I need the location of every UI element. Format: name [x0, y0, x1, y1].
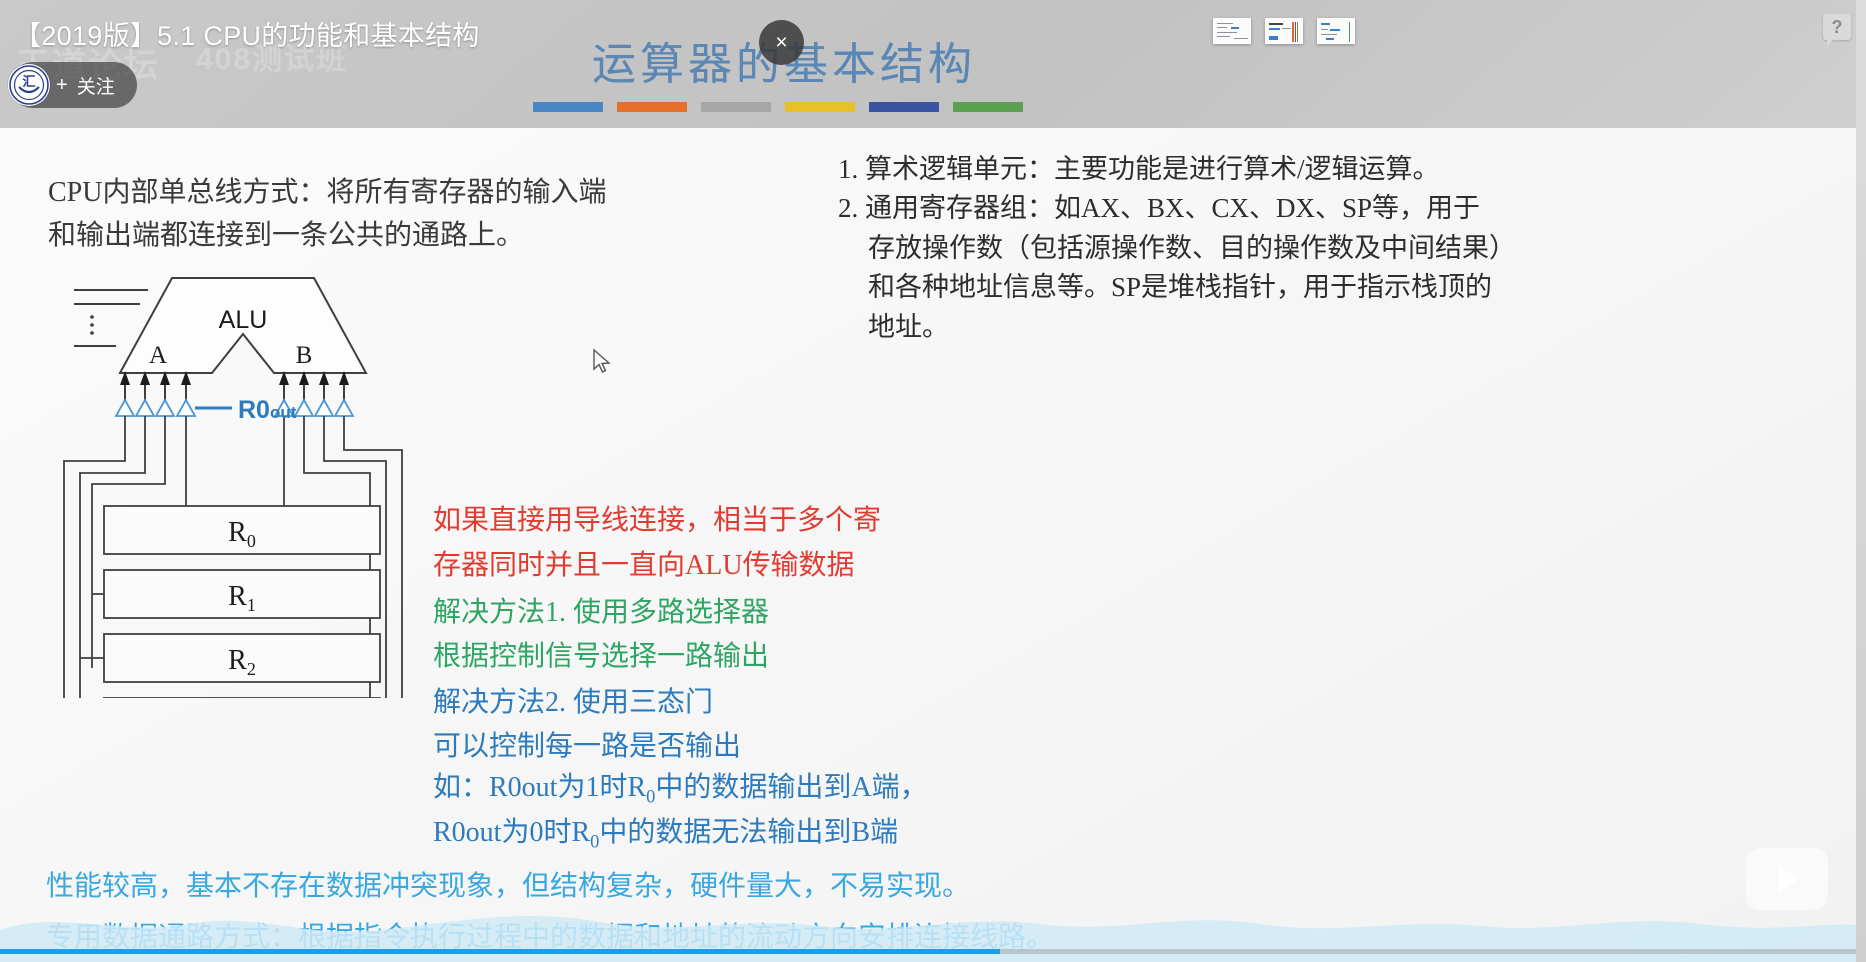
ex-subscript: 0 [590, 832, 599, 852]
follow-label: 关注 [77, 72, 115, 99]
right-block-line-2: 2. 通用寄存器组：如AX、BX、CX、DX、SP等，用于 [838, 189, 1516, 228]
heading-bar-1 [533, 102, 603, 112]
ex-suffix: 中的数据输出到A端， [655, 772, 927, 803]
right-block-line-5: 地址。 [838, 308, 1516, 347]
heading-bar-6 [953, 102, 1023, 112]
right-edge-strip [1856, 0, 1866, 962]
heading-bar-3 [701, 102, 771, 112]
heading-color-bars [533, 102, 1023, 112]
question-mark-icon: ? [1832, 17, 1843, 38]
right-block-line-4: 和各种地址信息等。SP是堆栈指针，用于指示栈顶的 [838, 268, 1516, 307]
progress-bar-track[interactable] [0, 949, 1866, 954]
ex-prefix: 如：R0out为1时 [433, 772, 627, 803]
ex-register: R [571, 817, 590, 848]
alu-circuit-diagram: ALU A B R0out R0 R1 R2 R3 [52, 268, 432, 698]
slide-thumbnail-1[interactable] [1213, 18, 1251, 44]
heading-bar-5 [869, 102, 939, 112]
right-block-line-1: 1. 算术逻辑单元：主要功能是进行算术/逻辑运算。 [838, 150, 1516, 189]
annotation-example-2: R0out为0时R0中的数据无法输出到B端 [433, 819, 898, 851]
close-icon: × [775, 31, 787, 55]
ex-prefix: R0out为0时 [433, 817, 571, 848]
platform-logo-watermark [1746, 848, 1828, 910]
annotation-2: 存器同时并且一直向ALU传输数据 [433, 552, 855, 580]
slide-thumbnail-3[interactable] [1317, 18, 1355, 44]
slide-thumbnail-strip [1213, 18, 1355, 44]
ex-register: R [627, 772, 646, 803]
svg-text:B: B [296, 342, 313, 369]
svg-text:汇: 汇 [22, 74, 35, 89]
bottom-line-1: 性能较高，基本不存在数据冲突现象，但结构复杂，硬件量大，不易实现。 [46, 864, 970, 904]
close-button[interactable]: × [759, 20, 804, 65]
ex-subscript: 0 [646, 787, 655, 807]
progress-bar-fill [0, 949, 1000, 954]
annotation-3: 解决方法1. 使用多路选择器 [433, 599, 769, 627]
annotation-6: 可以控制每一路是否输出 [433, 733, 741, 761]
play-triangle-icon [1779, 866, 1799, 892]
slide-canvas: 运算器的基本结构 CPU内部单总线方式：将所有寄存器的输入端和输出端都连接到一条… [0, 128, 1866, 962]
right-text-block: 1. 算术逻辑单元：主要功能是进行算术/逻辑运算。2. 通用寄存器组：如AX、B… [838, 150, 1516, 347]
heading-bar-4 [785, 102, 855, 112]
right-block-line-3: 存放操作数（包括源操作数、目的操作数及中间结果） [838, 229, 1516, 268]
left-paragraph-line-2: 和输出端都连接到一条公共的通路上。 [48, 215, 606, 258]
video-player: 运算器的基本结构 CPU内部单总线方式：将所有寄存器的输入端和输出端都连接到一条… [0, 0, 1866, 962]
annotation-5: 解决方法2. 使用三态门 [433, 689, 713, 717]
annotation-example-1: 如：R0out为1时R0中的数据输出到A端， [433, 774, 928, 806]
annotation-4: 根据控制信号选择一路输出 [433, 643, 769, 671]
left-paragraph-line-1: CPU内部单总线方式：将所有寄存器的输入端 [48, 172, 606, 215]
svg-text:A: A [149, 342, 167, 369]
svg-text:ALU: ALU [219, 306, 268, 334]
channel-avatar[interactable]: 汇 [8, 64, 50, 106]
mouse-cursor [592, 348, 616, 378]
video-title: 【2019版】5.1 CPU的功能和基本结构 [14, 14, 480, 53]
ex-suffix: 中的数据无法输出到B端 [599, 817, 898, 848]
heading-bar-2 [617, 102, 687, 112]
annotation-1: 如果直接用导线连接，相当于多个寄 [433, 507, 881, 535]
left-paragraph: CPU内部单总线方式：将所有寄存器的输入端和输出端都连接到一条公共的通路上。 [48, 172, 606, 257]
plus-icon: + [56, 75, 68, 95]
help-button[interactable]: ? [1823, 14, 1851, 40]
svg-text:R0out: R0out [238, 396, 297, 424]
slide-thumbnail-2[interactable] [1265, 18, 1303, 44]
